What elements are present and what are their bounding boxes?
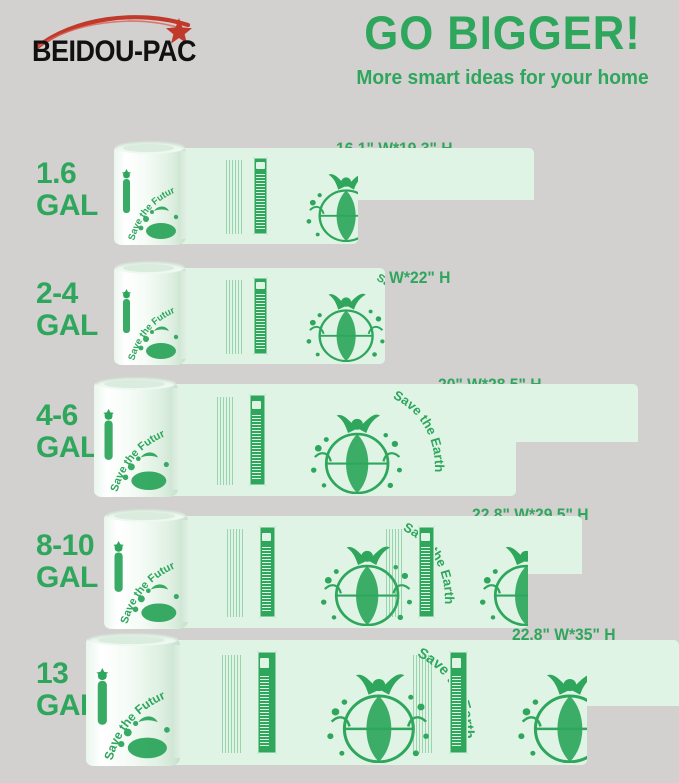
sheet-print-area: Save the Earth <box>172 384 516 496</box>
strip-barcode <box>256 174 265 229</box>
strip-barcode <box>452 674 461 746</box>
product-strip-label <box>257 651 276 754</box>
capacity-unit: GAL <box>36 309 98 342</box>
sheet-print-area: Save the Earth <box>176 640 587 765</box>
product-strip-label <box>249 394 266 486</box>
sheet-print-group: Save the Earth <box>220 268 385 364</box>
roll-print-artwork: Save the Future <box>94 381 178 497</box>
strip-barcode <box>252 414 261 478</box>
hatch-lines-decor <box>217 397 235 484</box>
strip-barcode <box>256 294 265 349</box>
save-the-earth-slogan: Save the Earth <box>382 391 455 492</box>
strip-logo-mark <box>452 658 461 667</box>
unrolled-bag-sheet: Save the Earth <box>182 268 385 364</box>
size-row: 13 GAL 22.8" W*35" H <box>0 640 679 765</box>
sheet-print-area: Save the Earth <box>182 268 385 364</box>
sheet-print-group: Save the Earth <box>379 516 528 628</box>
size-row: 1.6 GAL 16.1" W*19.3" H <box>0 148 679 244</box>
brand-logo: BEIDOU-PAC <box>28 12 258 70</box>
product-strip-label <box>418 526 435 618</box>
roll-print-artwork: Save the Future <box>104 513 188 629</box>
capacity-unit: GAL <box>36 561 98 594</box>
strip-logo-mark <box>260 658 269 667</box>
svg-text:Save the Earth: Save the Earth <box>375 272 385 344</box>
hatch-lines-decor <box>386 529 404 616</box>
hatch-lines-decor <box>226 280 242 355</box>
headline: GO BIGGER! <box>342 8 663 58</box>
size-row: 4-6 GAL 20" W*28.5" H <box>0 384 679 496</box>
svg-text:Save the Earth: Save the Earth <box>391 387 447 472</box>
sheet-print-group: Save the Earth <box>210 384 450 496</box>
roll-print-artwork: Save the Future <box>86 637 180 766</box>
capacity-label: 2-4 GAL <box>36 278 98 342</box>
strip-barcode <box>262 546 271 610</box>
earth-globe-graphic <box>515 668 587 763</box>
sheet-print-area: Save the Earth <box>182 148 358 244</box>
size-row: 8-10 GAL 22.8" W*29.5" H <box>0 516 679 628</box>
unrolled-bag-sheet: Save the Earth <box>176 640 679 765</box>
product-strip-label <box>449 651 468 754</box>
save-the-earth-slogan: Save the Earth <box>367 274 385 360</box>
capacity-unit: GAL <box>36 189 98 222</box>
earth-globe-graphic <box>477 541 528 626</box>
sheet-print-area: Save the Earth <box>182 516 528 628</box>
subheadline: More smart ideas for your home <box>337 66 668 90</box>
strip-barcode <box>260 674 269 746</box>
strip-logo-mark <box>256 282 265 289</box>
unrolled-bag-sheet: Save the Earth <box>172 384 638 496</box>
header: BEIDOU-PAC GO BIGGER! More smart ideas f… <box>0 0 679 118</box>
capacity-label: 1.6 GAL <box>36 158 98 222</box>
capacity-label: 8-10 GAL <box>36 530 98 594</box>
unrolled-bag-sheet: Save the Earth <box>182 148 534 244</box>
hatch-lines-decor <box>227 529 245 616</box>
hatch-lines-decor <box>226 160 242 235</box>
capacity-label: 4-6 GAL <box>36 400 98 464</box>
hatch-lines-decor <box>222 655 242 753</box>
unrolled-bag-sheet: Save the Earth <box>182 516 582 628</box>
rolled-bag: Save the Future <box>94 381 178 497</box>
sheet-print-group: Save the Earth <box>220 148 358 244</box>
capacity-unit: GAL <box>36 431 98 464</box>
rolled-bag: Save the Future <box>104 513 188 629</box>
strip-logo-mark <box>252 401 261 409</box>
rolled-bag: Save the Future <box>114 265 186 365</box>
size-row: 2-4 GAL 17" W*22" H <box>0 268 679 364</box>
earth-globe-graphic <box>304 169 358 242</box>
rolled-bag: Save the Future <box>86 637 180 766</box>
strip-logo-mark <box>262 533 271 541</box>
brand-logo-text: BEIDOU-PAC <box>32 35 196 68</box>
product-strip-label <box>253 157 268 236</box>
strip-barcode <box>421 546 430 610</box>
roll-print-artwork: Save the Future <box>114 265 186 365</box>
rolled-bag: Save the Future <box>114 145 186 245</box>
product-strip-label <box>253 277 268 356</box>
strip-logo-mark <box>421 533 430 541</box>
sheet-print-group: Save the Earth <box>406 640 588 765</box>
roll-print-artwork: Save the Future <box>114 145 186 245</box>
product-strip-label <box>259 526 276 618</box>
hatch-lines-decor <box>413 655 433 753</box>
strip-logo-mark <box>256 162 265 169</box>
